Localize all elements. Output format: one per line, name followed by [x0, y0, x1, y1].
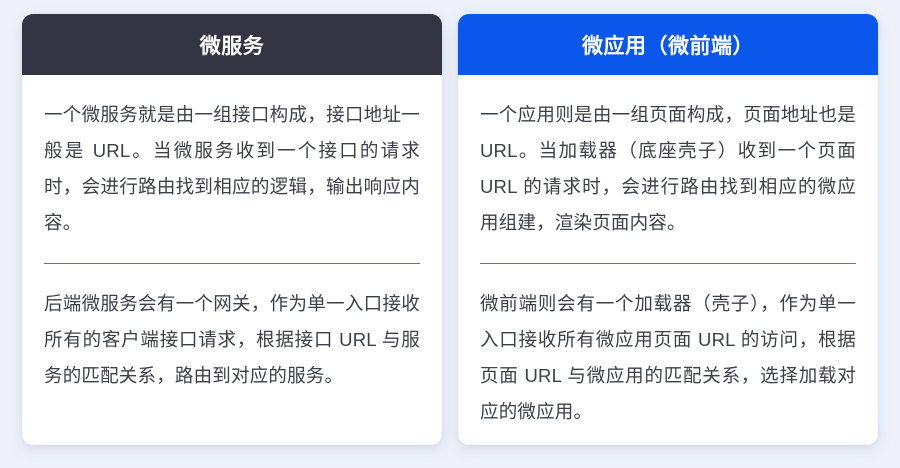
- paragraph-microapp-loader: 微前端则会有一个加载器（壳子），作为单一入口接收所有微应用页面 URL 的访问，…: [480, 286, 856, 430]
- comparison-board: 微服务 一个微服务就是由一组接口构成，接口地址一般是 URL。当微服务收到一个接…: [0, 0, 900, 468]
- paragraph-microservice-definition: 一个微服务就是由一组接口构成，接口地址一般是 URL。当微服务收到一个接口的请求…: [44, 93, 420, 241]
- card-title-microservice: 微服务: [200, 30, 265, 60]
- paragraph-microservice-gateway: 后端微服务会有一个网关，作为单一入口接收所有的客户端接口请求，根据接口 URL …: [44, 286, 420, 394]
- card-header-microservice: 微服务: [22, 14, 442, 75]
- paragraph-microapp-definition: 一个应用则是由一组页面构成，页面地址也是 URL。当加载器（底座壳子）收到一个页…: [480, 93, 856, 241]
- card-body-microapp: 一个应用则是由一组页面构成，页面地址也是 URL。当加载器（底座壳子）收到一个页…: [458, 75, 878, 445]
- card-divider-microapp: [480, 263, 856, 264]
- card-microservice: 微服务 一个微服务就是由一组接口构成，接口地址一般是 URL。当微服务收到一个接…: [22, 14, 442, 445]
- card-title-microapp: 微应用（微前端）: [582, 30, 754, 60]
- card-body-microservice: 一个微服务就是由一组接口构成，接口地址一般是 URL。当微服务收到一个接口的请求…: [22, 75, 442, 445]
- card-microapp: 微应用（微前端） 一个应用则是由一组页面构成，页面地址也是 URL。当加载器（底…: [458, 14, 878, 445]
- card-header-microapp: 微应用（微前端）: [458, 14, 878, 75]
- card-divider-microservice: [44, 263, 420, 264]
